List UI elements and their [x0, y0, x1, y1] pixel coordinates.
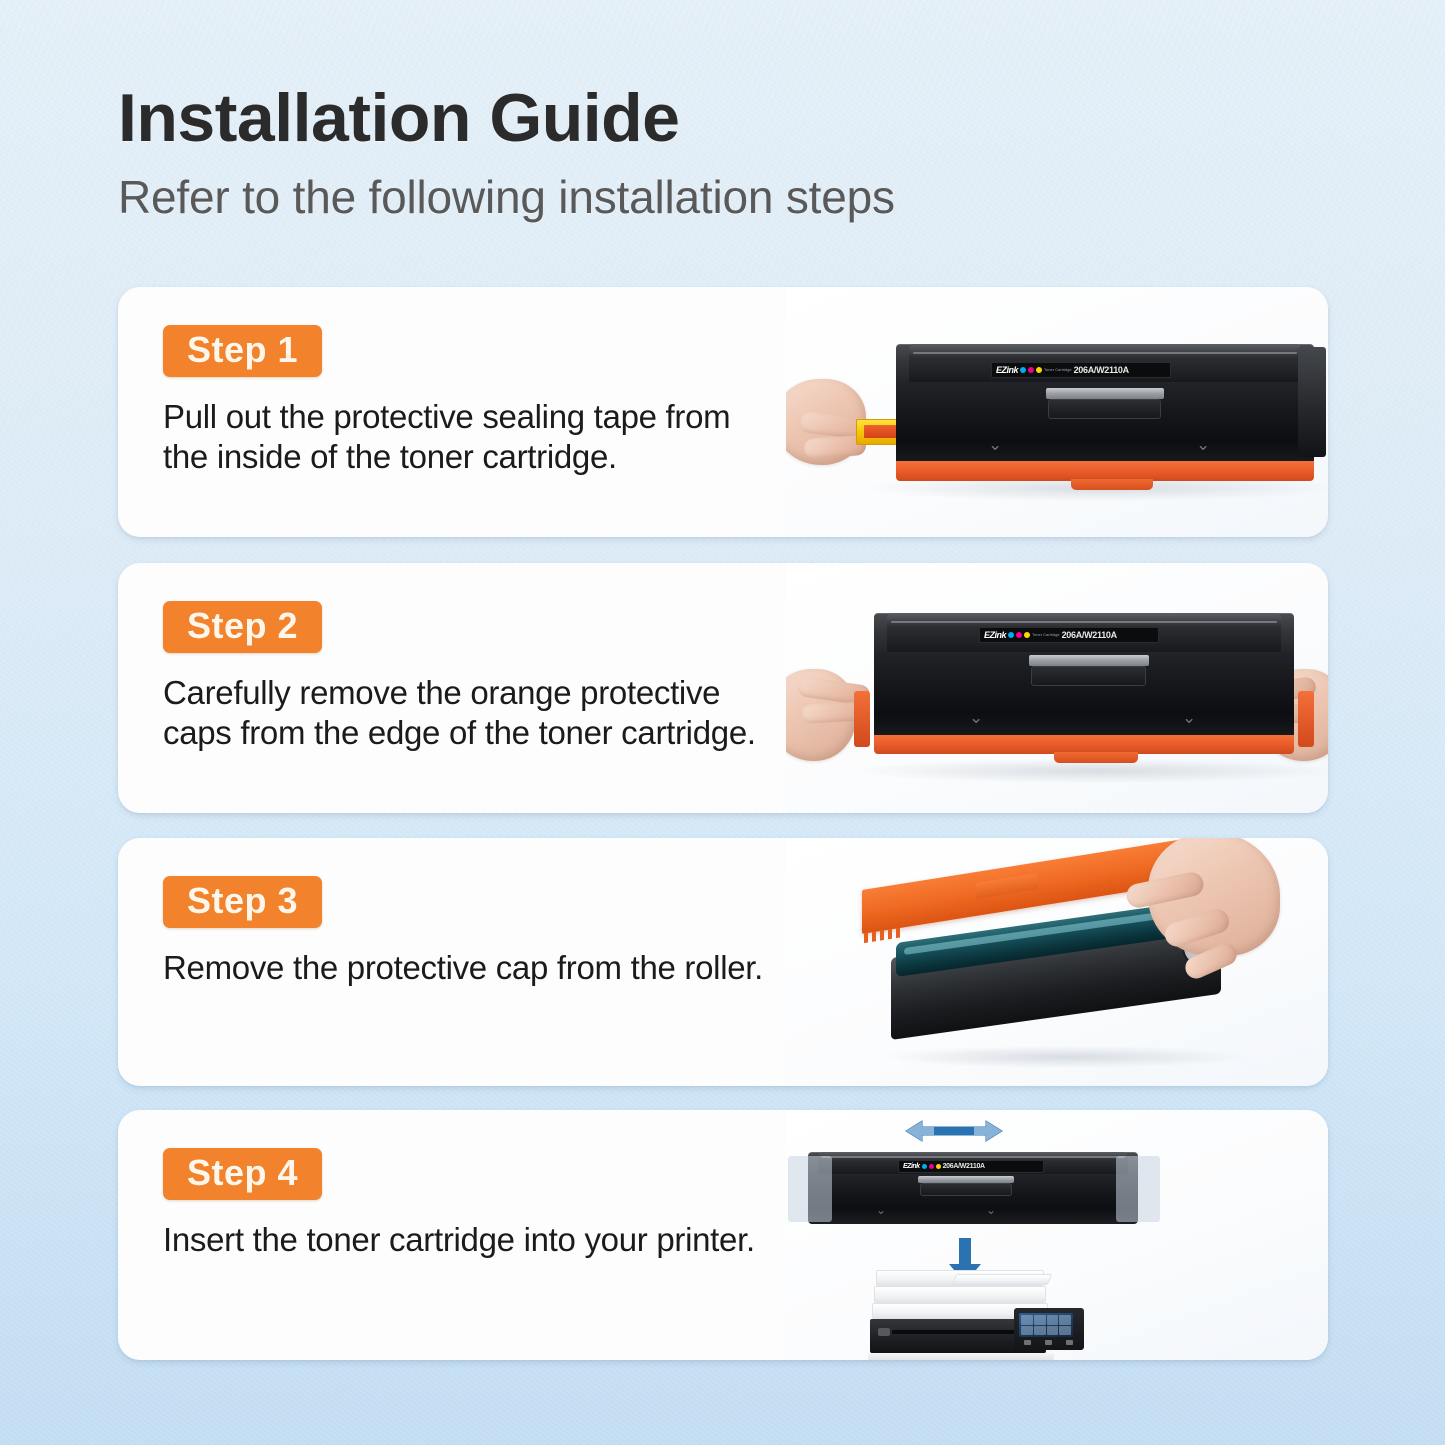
cartridge-gloss-highlight [891, 621, 1277, 623]
printer [868, 1270, 1086, 1360]
yellow-dot-icon [1036, 367, 1042, 373]
step-2-illustration: EZink Toner Cartridge 206A/W2110A ⌄ ⌄ [786, 563, 1328, 813]
step-1-description: Pull out the protective sealing tape fro… [163, 397, 763, 477]
screen-icon-2 [1034, 1315, 1046, 1325]
label-sub-text: Toner Cartridge [1032, 633, 1060, 637]
printer-panel-button-1[interactable] [1024, 1340, 1031, 1345]
chevron-down-icon-right: ⌄ [1182, 709, 1196, 726]
step-4-illustration: EZink 206A/W2110A ⌄ ⌄ [786, 1110, 1328, 1360]
cartridge-handle [920, 1183, 1012, 1196]
cyan-dot-icon [1020, 367, 1026, 373]
cartridge-endcap-right [1298, 347, 1326, 457]
screen-icon-1 [1021, 1315, 1033, 1325]
printer-panel-button-3[interactable] [1066, 1340, 1073, 1345]
printer-brand-mark [878, 1328, 890, 1336]
cartridge-orange-tab [1071, 479, 1153, 490]
printer-scanner-body [874, 1286, 1046, 1303]
chevron-down-icon-left: ⌄ [969, 709, 983, 726]
yellow-dot-icon [936, 1164, 941, 1169]
cartridge-gloss-highlight [913, 352, 1298, 354]
shake-double-arrow-icon [904, 1118, 1004, 1144]
cartridge-shadow [886, 1046, 1246, 1068]
step-1-text-block: Step 1 Pull out the protective sealing t… [118, 287, 786, 537]
step-card-3: Step 3 Remove the protective cap from th… [118, 838, 1328, 1086]
step-4-description: Insert the toner cartridge into your pri… [163, 1220, 763, 1260]
page-header: Installation Guide Refer to the followin… [118, 84, 1328, 220]
step-1-illustration: EZink Toner Cartridge 206A/W2110A ⌄ ⌄ [786, 287, 1328, 537]
step-3-text-block: Step 3 Remove the protective cap from th… [118, 838, 786, 1086]
step-3-badge: Step 3 [163, 876, 322, 928]
printer-adf-tray [952, 1274, 1052, 1285]
cyan-dot-icon [922, 1164, 927, 1169]
cartridge-vent-slot [1046, 388, 1164, 399]
chevron-down-icon-left: ⌄ [988, 436, 1002, 453]
magenta-dot-icon [1028, 367, 1034, 373]
toner-cartridge: EZink 206A/W2110A ⌄ ⌄ [808, 1152, 1138, 1224]
cyan-dot-icon [1008, 632, 1014, 638]
step-2-badge: Step 2 [163, 601, 322, 653]
yellow-dot-icon [1024, 632, 1030, 638]
cartridge-label: EZink 206A/W2110A [898, 1160, 1044, 1173]
step-4-text-block: Step 4 Insert the toner cartridge into y… [118, 1110, 786, 1360]
step-4-badge: Step 4 [163, 1148, 322, 1200]
cartridge-handle [1048, 399, 1161, 419]
brand-text: EZink [903, 1163, 920, 1170]
chevron-down-icon-right: ⌄ [986, 1204, 996, 1216]
chevron-down-icon-right: ⌄ [1196, 436, 1210, 453]
cartridge-orange-base [896, 461, 1314, 481]
printer-bottom-base [868, 1353, 1054, 1360]
model-text: 206A/W2110A [1074, 365, 1129, 376]
magenta-dot-icon [1016, 632, 1022, 638]
printer-control-panel [1014, 1308, 1084, 1350]
brand-text: EZink [996, 365, 1018, 375]
step-3-illustration [786, 838, 1328, 1086]
step-card-1: Step 1 Pull out the protective sealing t… [118, 287, 1328, 537]
cartridge-guide-rail-left [788, 1156, 832, 1222]
cartridge-gloss-highlight [821, 1156, 1125, 1158]
cartridge-label: EZink Toner Cartridge 206A/W2110A [991, 362, 1171, 378]
printer-paper-slot [892, 1330, 1032, 1334]
screen-icon-5 [1021, 1326, 1033, 1336]
cartridge-handle [1031, 666, 1146, 686]
magenta-dot-icon [929, 1164, 934, 1169]
orange-cap-left [854, 691, 870, 747]
chevron-down-icon-left: ⌄ [876, 1204, 886, 1216]
model-text: 206A/W2110A [943, 1163, 985, 1170]
printer-panel-button-2[interactable] [1045, 1340, 1052, 1345]
orange-cap-right [1298, 691, 1314, 747]
cartridge-guide-rail-right [1116, 1156, 1160, 1222]
cartridge-vent-slot [1029, 655, 1149, 666]
cartridge-vent-slot [918, 1176, 1014, 1183]
installation-guide-page: Installation Guide Refer to the followin… [0, 0, 1445, 1445]
screen-icon-7 [1047, 1326, 1059, 1336]
step-1-badge: Step 1 [163, 325, 322, 377]
step-card-4: Step 4 Insert the toner cartridge into y… [118, 1110, 1328, 1360]
brand-text: EZink [984, 630, 1006, 640]
page-subtitle: Refer to the following installation step… [118, 174, 1328, 220]
step-3-description: Remove the protective cap from the rolle… [163, 948, 763, 988]
step-card-2: Step 2 Carefully remove the orange prote… [118, 563, 1328, 813]
model-text: 206A/W2110A [1062, 630, 1117, 641]
screen-icon-4 [1059, 1315, 1071, 1325]
step-2-text-block: Step 2 Carefully remove the orange prote… [118, 563, 786, 813]
label-sub-text: Toner Cartridge [1044, 368, 1072, 372]
screen-icon-3 [1047, 1315, 1059, 1325]
screen-icon-6 [1034, 1326, 1046, 1336]
step-2-description: Carefully remove the orange protective c… [163, 673, 763, 753]
toner-cartridge: EZink Toner Cartridge 206A/W2110A ⌄ ⌄ [896, 344, 1314, 469]
toner-cartridge: EZink Toner Cartridge 206A/W2110A ⌄ ⌄ [874, 613, 1294, 743]
cartridge-orange-tab [1054, 752, 1138, 763]
page-title: Installation Guide [118, 84, 1328, 152]
printer-touchscreen[interactable] [1019, 1313, 1073, 1337]
screen-icon-8 [1059, 1326, 1071, 1336]
cartridge-label: EZink Toner Cartridge 206A/W2110A [979, 627, 1159, 643]
